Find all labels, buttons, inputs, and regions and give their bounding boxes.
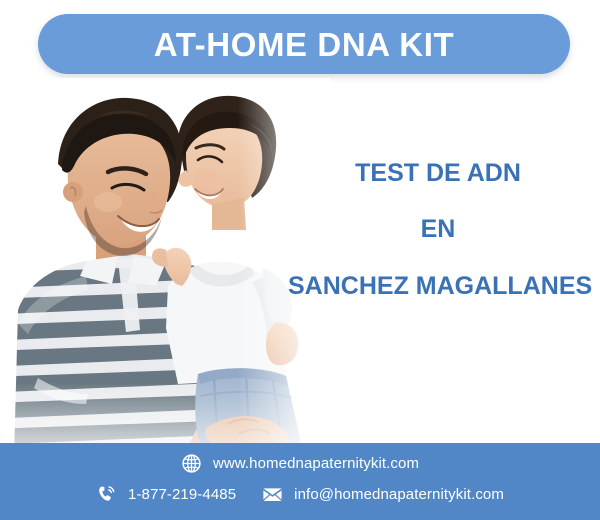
footer-bar: www.homednapaternitykit.com 1-877-219-44… [0,443,600,520]
email-item[interactable]: info@homednapaternitykit.com [262,484,504,505]
poster-root: AT-HOME DNA KIT [0,0,600,520]
footer-contact-row: 1-877-219-4485 info@homednapaternitykit.… [0,484,600,505]
globe-icon [181,453,202,474]
headline-line-1: TEST DE ADN [288,160,588,186]
email-text: info@homednapaternitykit.com [294,486,504,503]
footer-website-row: www.homednapaternitykit.com [0,453,600,474]
phone-icon [96,484,117,505]
phone-item[interactable]: 1-877-219-4485 [96,484,236,505]
headline-line-2: EN [288,216,588,242]
headline-block: TEST DE ADN EN SANCHEZ MAGALLANES [288,160,588,299]
page-title: AT-HOME DNA KIT [154,28,454,61]
header-banner: AT-HOME DNA KIT [38,14,570,74]
headline-line-3: SANCHEZ MAGALLANES [288,273,588,299]
phone-text: 1-877-219-4485 [128,486,236,503]
website-item[interactable]: www.homednapaternitykit.com [181,453,419,474]
father-holding-toddler-photo [0,78,330,458]
website-text: www.homednapaternitykit.com [213,455,419,472]
envelope-icon [262,484,283,505]
